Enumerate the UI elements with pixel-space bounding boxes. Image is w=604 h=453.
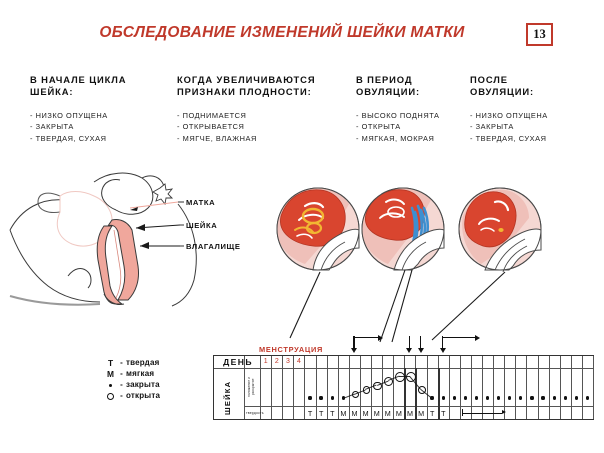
cervix-view-closed-dry: [275, 186, 361, 272]
fertile-window-start-tick: [462, 409, 463, 416]
peak-arrow-right: [353, 337, 379, 338]
grid-vline: [493, 356, 494, 419]
phase-item: - ЗАКРЫТА: [30, 121, 126, 132]
grid-hline: [244, 406, 593, 407]
firmness-cell: Т: [427, 409, 438, 418]
day-number: 3: [282, 358, 293, 365]
phase-item: - ОТКРЫВАЕТСЯ: [177, 121, 316, 132]
phase-item-list: - НИЗКО ОПУЩЕНА - ЗАКРЫТА - ТВЕРДАЯ, СУХ…: [30, 110, 126, 144]
phase-item-list: - НИЗКО ОПУЩЕНА - ЗАКРЫТА - ТВЕРДАЯ, СУХ…: [470, 110, 548, 144]
cervix-view-closed-firm: [457, 186, 543, 272]
grid-vline: [460, 356, 461, 419]
phase-column-start-of-cycle: В НАЧАЛЕ ЦИКЛА ШЕЙКА: - НИЗКО ОПУЩЕНА - …: [30, 74, 126, 144]
phase-item: - ТВЕРДАЯ, СУХАЯ: [470, 133, 548, 144]
page-number-badge: 13: [526, 23, 553, 46]
chart-legend: Т - твердая М - мягкая - закрыта - откры…: [104, 357, 212, 401]
firmness-cell: М: [382, 409, 393, 418]
anatomy-label-uterus: МАТКА: [186, 198, 215, 207]
closed-dot-icon: [104, 380, 117, 390]
grid-vline: [526, 356, 527, 419]
grid-vline: [571, 356, 572, 419]
phase-item: - ТВЕРДАЯ, СУХАЯ: [30, 133, 126, 144]
grid-vline: [449, 356, 450, 419]
phase-item: - ОТКРЫТА: [356, 121, 440, 132]
phase-item: - ПОДНИМАЕТСЯ: [177, 110, 316, 121]
cervix-view-open-wet: [360, 186, 446, 272]
legend-label-soft: мягкая: [126, 369, 154, 378]
page-title: ОБСЛЕДОВАНИЕ ИЗМЕНЕНИЙ ШЕЙКИ МАТКИ: [72, 24, 492, 42]
firmness-cell: М: [393, 409, 404, 418]
grid-vline: [293, 356, 294, 419]
day-number: 4: [294, 358, 305, 365]
row-label-firmness: твердость: [246, 411, 259, 415]
grid-vline: [538, 356, 539, 419]
anatomy-label-vagina: ВЛАГАЛИЩЕ: [186, 242, 241, 251]
page-number: 13: [533, 27, 546, 42]
phase-item: - МЯГКАЯ, МОКРАЯ: [356, 133, 440, 144]
open-circle-icon: [104, 391, 117, 401]
phase-heading: ПОСЛЕ ОВУЛЯЦИИ:: [470, 74, 548, 99]
phase-heading-line1: КОГДА УВЕЛИЧИВАЮТСЯ: [177, 74, 316, 86]
firmness-cell: М: [405, 409, 416, 418]
grid-vline: [593, 356, 594, 419]
legend-label-open: открыта: [126, 391, 160, 400]
phase-heading: В НАЧАЛЕ ЦИКЛА ШЕЙКА:: [30, 74, 126, 99]
phase-heading-line2: ОВУЛЯЦИИ:: [470, 86, 548, 98]
firmness-cell: М: [371, 409, 382, 418]
legend-dash: -: [117, 391, 126, 400]
phase-heading-line2: ОВУЛЯЦИИ:: [356, 86, 440, 98]
peak-arrow-right: [442, 337, 476, 338]
firmness-cell: М: [416, 409, 427, 418]
grid-vline: [482, 356, 483, 419]
phase-heading-line1: ПОСЛЕ: [470, 74, 548, 86]
phase-item-list: - ПОДНИМАЕТСЯ - ОТКРЫВАЕТСЯ - МЯГЧЕ, ВЛА…: [177, 110, 316, 144]
phase-column-increasing-fertility: КОГДА УВЕЛИЧИВАЮТСЯ ПРИЗНАКИ ПЛОДНОСТИ: …: [177, 74, 316, 144]
phase-heading-line1: В ПЕРИОД: [356, 74, 440, 86]
legend-label-firm: твердая: [126, 358, 159, 367]
peak-arrow-down: [409, 336, 410, 349]
phase-heading-line2: ПРИЗНАКИ ПЛОДНОСТИ:: [177, 86, 316, 98]
legend-row-closed: - закрыта: [104, 379, 212, 390]
title-bar: ОБСЛЕДОВАНИЕ ИЗМЕНЕНИЙ ШЕЙКИ МАТКИ 13: [0, 24, 604, 56]
peak-arrow-down: [420, 336, 421, 349]
legend-key-firm: Т: [104, 358, 117, 368]
day-number: 2: [271, 358, 282, 365]
grid-vline: [471, 356, 472, 419]
legend-dash: -: [117, 369, 126, 378]
grid-vline: [549, 356, 550, 419]
legend-row-open: - открыта: [104, 390, 212, 401]
legend-row-firm: Т - твердая: [104, 357, 212, 368]
phase-heading: В ПЕРИОД ОВУЛЯЦИИ:: [356, 74, 440, 99]
phase-item: - НИЗКО ОПУЩЕНА: [30, 110, 126, 121]
grid-vline: [582, 356, 583, 419]
firmness-cell: М: [360, 409, 371, 418]
anatomy-label-cervix: ШЕЙКА: [186, 221, 217, 230]
grid-vline: [282, 356, 283, 419]
legend-dash: -: [117, 380, 126, 389]
phase-heading: КОГДА УВЕЛИЧИВАЮТСЯ ПРИЗНАКИ ПЛОДНОСТИ:: [177, 74, 316, 99]
grid-vline: [560, 356, 561, 419]
day-number: 1: [260, 358, 271, 365]
legend-dash: -: [117, 358, 126, 367]
phase-column-after-ovulation: ПОСЛЕ ОВУЛЯЦИИ: - НИЗКО ОПУЩЕНА - ЗАКРЫТ…: [470, 74, 548, 144]
legend-label-closed: закрыта: [126, 380, 160, 389]
row-label-position-opening: положение и раскрытие: [247, 371, 258, 403]
firmness-cell: М: [349, 409, 360, 418]
phase-item: - ЗАКРЫТА: [470, 121, 548, 132]
menstruation-label: МЕНСТРУАЦИЯ: [259, 345, 323, 354]
phase-item: - МЯГЧЕ, ВЛАЖНАЯ: [177, 133, 316, 144]
grid-vline: [260, 356, 261, 419]
firmness-cell: Т: [316, 409, 327, 418]
firmness-cell: Т: [327, 409, 338, 418]
firmness-cell: Т: [305, 409, 316, 418]
phase-heading-line1: В НАЧАЛЕ ЦИКЛА: [30, 74, 126, 86]
day-header: ДЕНЬ: [218, 357, 258, 367]
firmness-cell: Т: [438, 409, 449, 418]
phase-heading-line2: ШЕЙКА:: [30, 86, 126, 98]
fertile-window-arrow: [462, 413, 502, 414]
legend-key-soft: М: [104, 369, 117, 379]
chart-grid: ДЕНЬ1234ШЕЙКАположение и раскрытиетвердо…: [213, 355, 594, 420]
grid-vline: [515, 356, 516, 419]
connector-lines: [0, 262, 604, 358]
phase-column-ovulation: В ПЕРИОД ОВУЛЯЦИИ: - ВЫСОКО ПОДНЯТА - ОТ…: [356, 74, 440, 144]
phase-item: - ВЫСОКО ПОДНЯТА: [356, 110, 440, 121]
phase-item: - НИЗКО ОПУЩЕНА: [470, 110, 548, 121]
grid-vline: [271, 356, 272, 419]
firmness-cell: М: [338, 409, 349, 418]
phase-item-list: - ВЫСОКО ПОДНЯТА - ОТКРЫТА - МЯГКАЯ, МОК…: [356, 110, 440, 144]
row-group-label: ШЕЙКА: [223, 372, 232, 415]
legend-row-soft: М - мягкая: [104, 368, 212, 379]
